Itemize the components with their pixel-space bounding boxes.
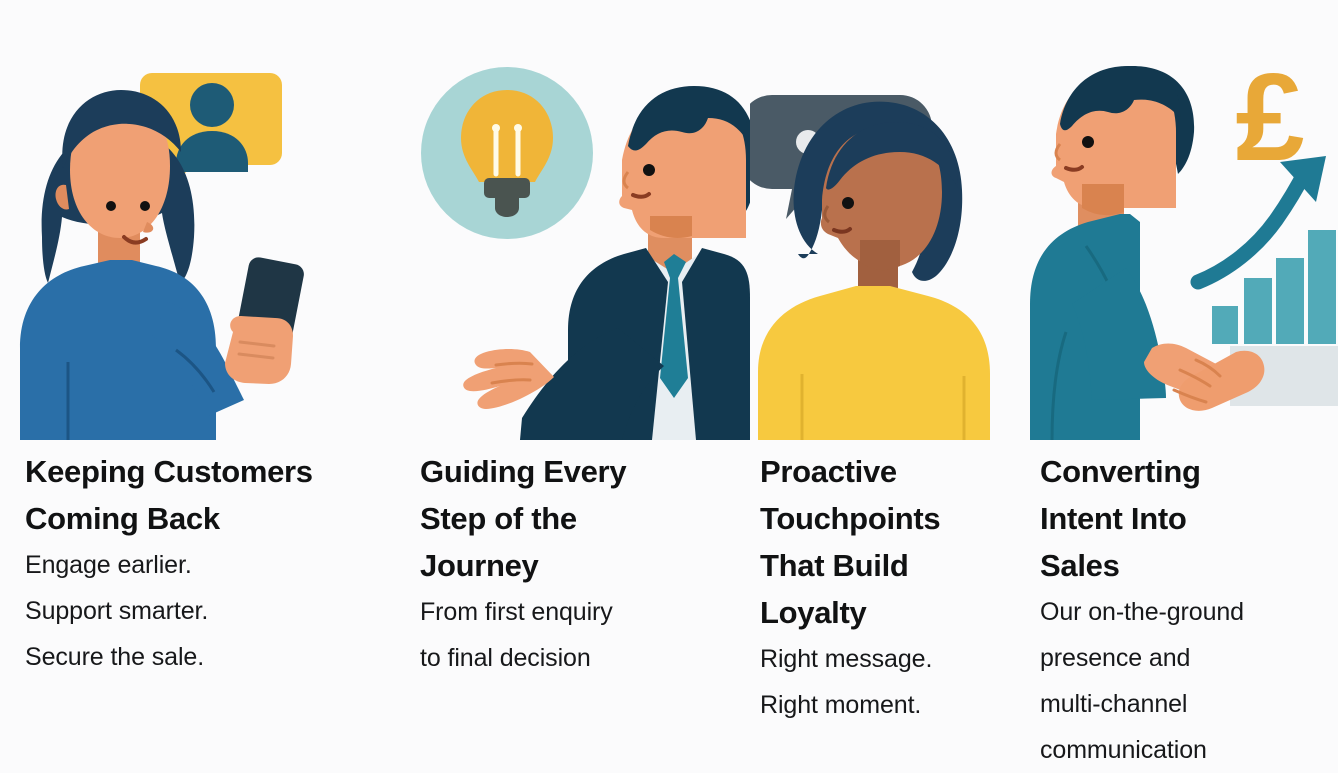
panel-headline: Converting Intent Into Sales: [1040, 448, 1324, 589]
bar-2: [1244, 278, 1272, 344]
panel-headline: Keeping Customers Coming Back: [25, 448, 386, 542]
panel-subtext: Our on-the-ground presence and multi-cha…: [1040, 589, 1324, 773]
panel-conversion: £: [1030, 0, 1338, 772]
panel-copy: Proactive Touchpoints That Build Loyalty…: [750, 448, 1030, 728]
panel-headline: Proactive Touchpoints That Build Loyalty: [760, 448, 1018, 636]
illustration-woman-with-phone: [0, 0, 400, 440]
panel-copy: Converting Intent Into Sales Our on-the-…: [1030, 448, 1338, 773]
bar-4: [1308, 230, 1336, 344]
bar-1: [1212, 306, 1238, 344]
panel-copy: Keeping Customers Coming Back Engage ear…: [0, 448, 400, 680]
illustration-businessman-idea: [400, 0, 750, 440]
panel-headline: Guiding Every Step of the Journey: [420, 448, 736, 589]
panel-subtext: From first enquiry to final decision: [420, 589, 736, 681]
illustration-woman-chat-bubble: [750, 0, 1030, 440]
panel-copy: Guiding Every Step of the Journey From f…: [400, 448, 750, 681]
panel-subtext: Engage earlier. Support smarter. Secure …: [25, 542, 386, 680]
panel-touchpoints: Proactive Touchpoints That Build Loyalty…: [750, 0, 1030, 772]
bar-chart: [1212, 230, 1336, 344]
panel-guidance: Guiding Every Step of the Journey From f…: [400, 0, 750, 772]
panel-subtext: Right message. Right moment.: [760, 636, 1018, 728]
illustration-handshake-growth: £: [1030, 0, 1338, 440]
infographic-canvas: Keeping Customers Coming Back Engage ear…: [0, 0, 1338, 772]
panel-retention: Keeping Customers Coming Back Engage ear…: [0, 0, 400, 772]
bar-3: [1276, 258, 1304, 344]
